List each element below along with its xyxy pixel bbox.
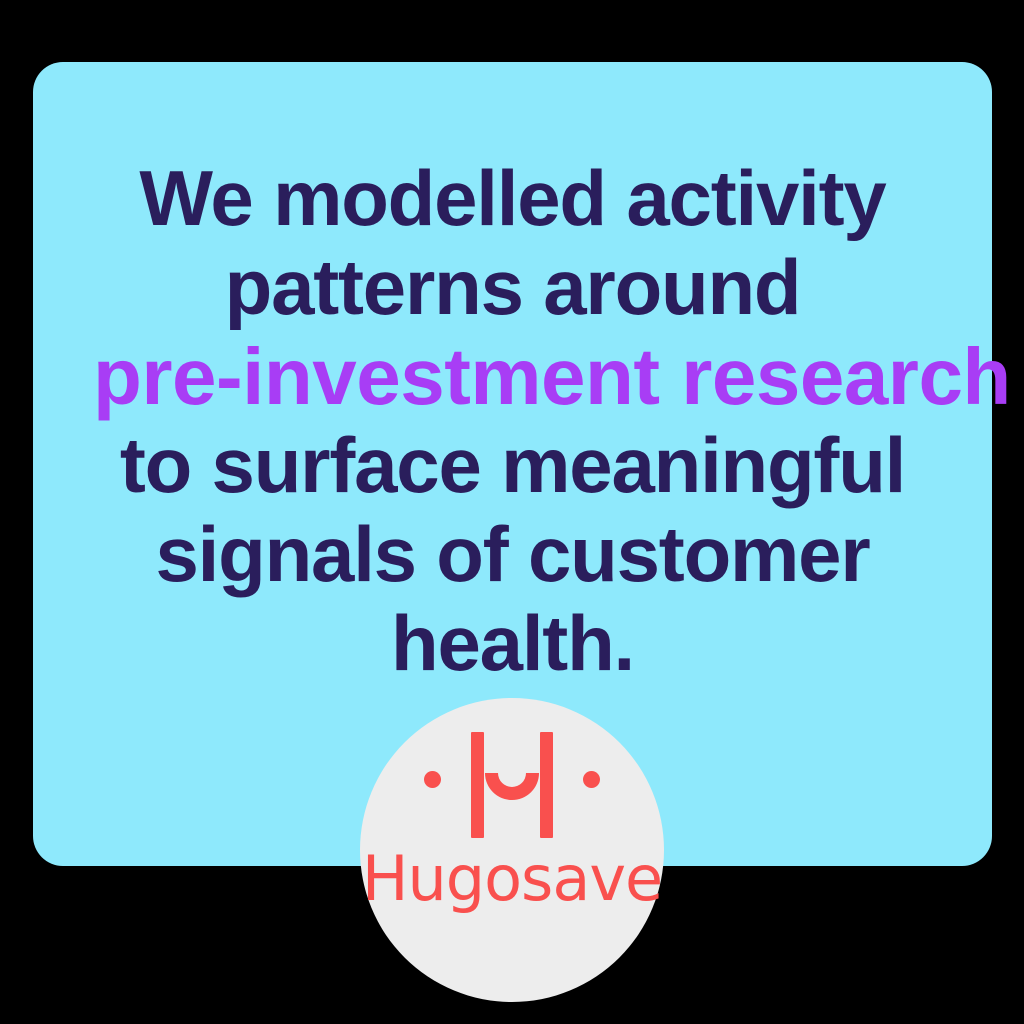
face-left-dot-icon <box>424 771 441 788</box>
quote-line-5: signals of customer <box>93 510 932 599</box>
hugosave-logo-badge: Hugosave <box>360 698 664 1002</box>
hugosave-face-icon <box>424 732 600 838</box>
face-smile-icon <box>485 773 539 800</box>
quote-text: We modelled activity patterns around pre… <box>93 154 932 688</box>
quote-line-3-highlight: pre-investment research <box>93 332 932 421</box>
quote-line-4: to surface meaningful <box>93 421 932 510</box>
hugosave-wordmark: Hugosave <box>360 848 664 910</box>
quote-line-6: health. <box>93 599 932 688</box>
face-right-bar-icon <box>540 732 553 838</box>
face-left-bar-icon <box>471 732 484 838</box>
face-right-dot-icon <box>583 771 600 788</box>
canvas: We modelled activity patterns around pre… <box>0 0 1024 1024</box>
quote-line-1: We modelled activity <box>93 154 932 243</box>
quote-line-2: patterns around <box>93 243 932 332</box>
